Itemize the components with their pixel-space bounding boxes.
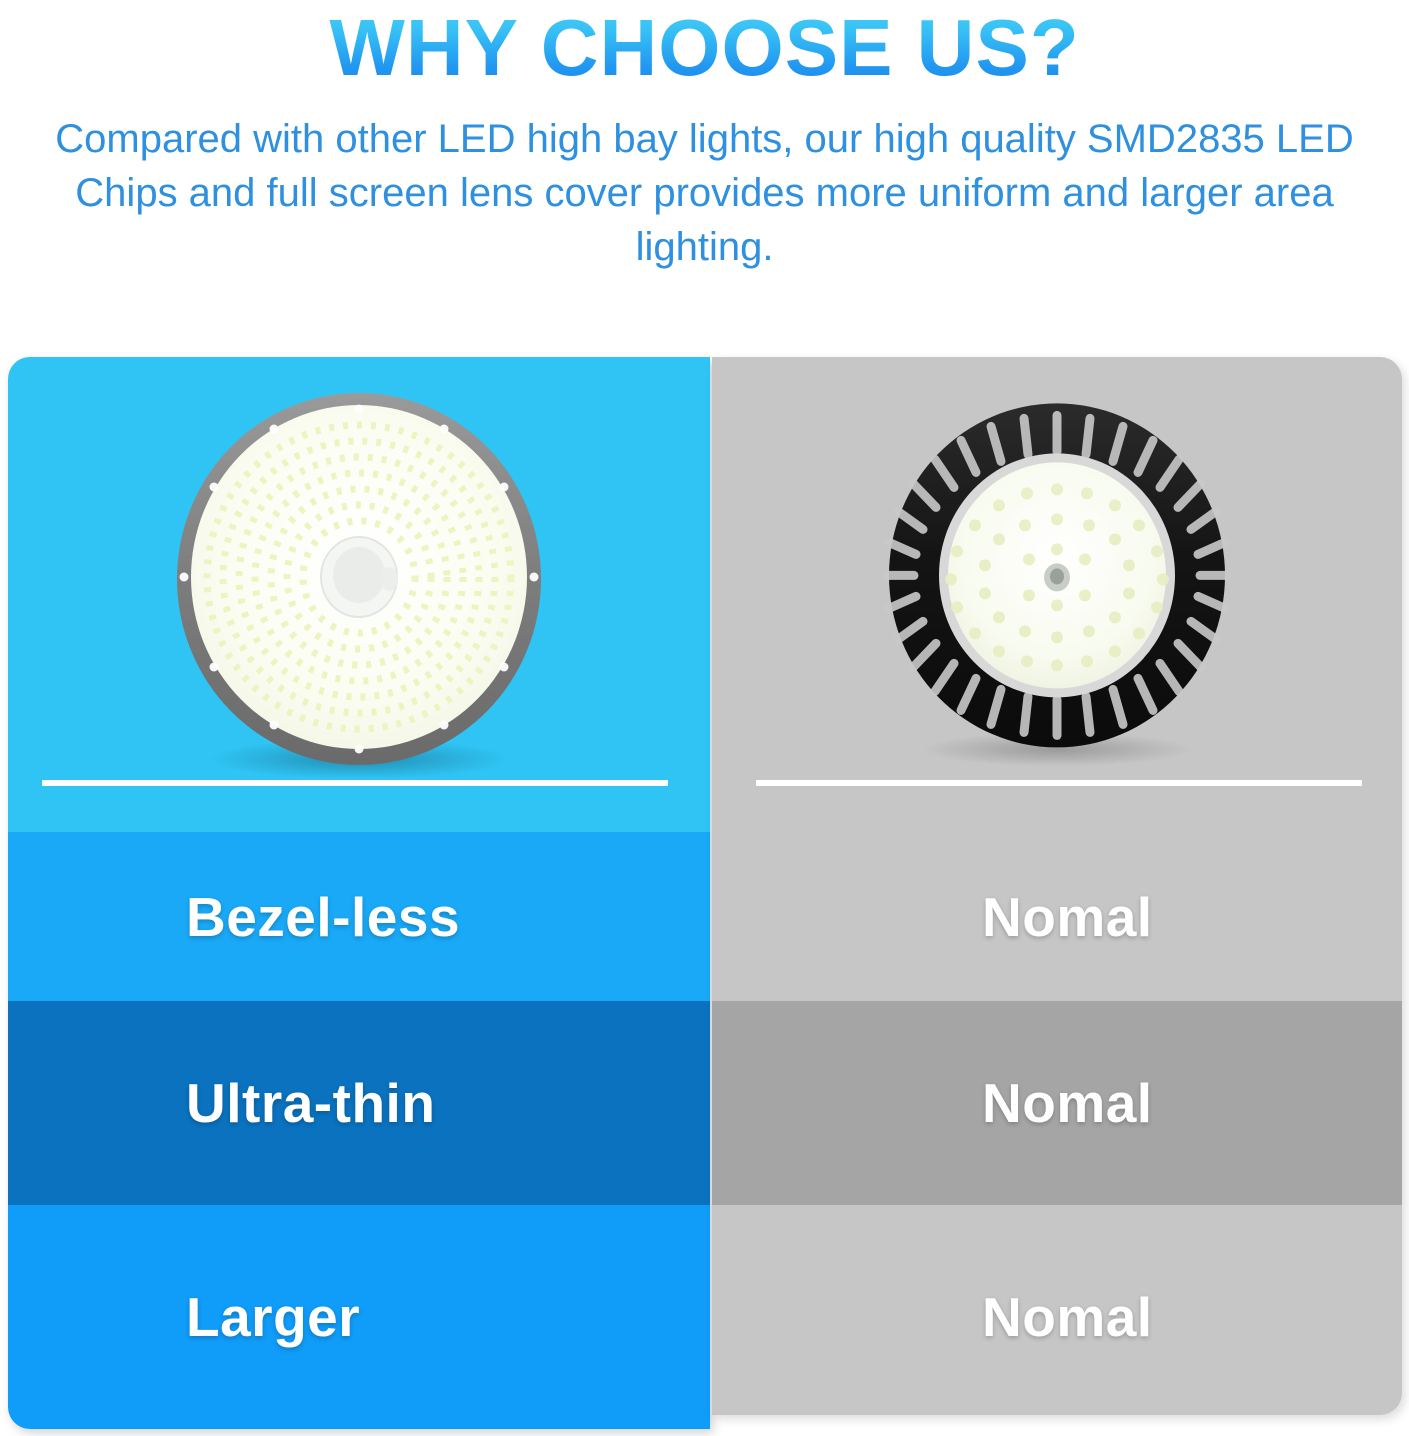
row-label: Ultra-thin	[8, 1073, 435, 1133]
page-subtitle: Compared with other LED high bay lights,…	[40, 112, 1370, 274]
comparison-column-ours: Bezel-less Ultra-thin Larger	[8, 357, 710, 1429]
page-title: WHY CHOOSE US?	[0, 2, 1409, 94]
row-bezel-less: Bezel-less	[8, 832, 710, 1001]
row-label: Bezel-less	[8, 887, 460, 947]
row-label: Larger	[8, 1287, 360, 1347]
header: WHY CHOOSE US? Compared with other LED h…	[0, 0, 1409, 274]
comparison-column-others: Nomal Nomal Nomal	[712, 357, 1402, 1415]
row-larger: Larger	[8, 1205, 710, 1429]
our-product-image-panel	[8, 357, 710, 832]
other-product-image-panel	[712, 357, 1402, 832]
divider-line-left	[42, 780, 668, 786]
bezel-less-high-bay-light-icon	[144, 387, 574, 787]
normal-ufo-high-bay-light-icon	[857, 397, 1257, 777]
row-label: Nomal	[712, 1287, 1153, 1347]
row-nomal-2: Nomal	[712, 1001, 1402, 1205]
row-label: Nomal	[712, 887, 1153, 947]
row-ultra-thin: Ultra-thin	[8, 1001, 710, 1205]
divider-line-right	[756, 780, 1362, 786]
row-nomal-3: Nomal	[712, 1205, 1402, 1415]
comparison-table: Bezel-less Ultra-thin Larger	[0, 357, 1409, 1429]
row-nomal-1: Nomal	[712, 832, 1402, 1001]
row-label: Nomal	[712, 1073, 1153, 1133]
